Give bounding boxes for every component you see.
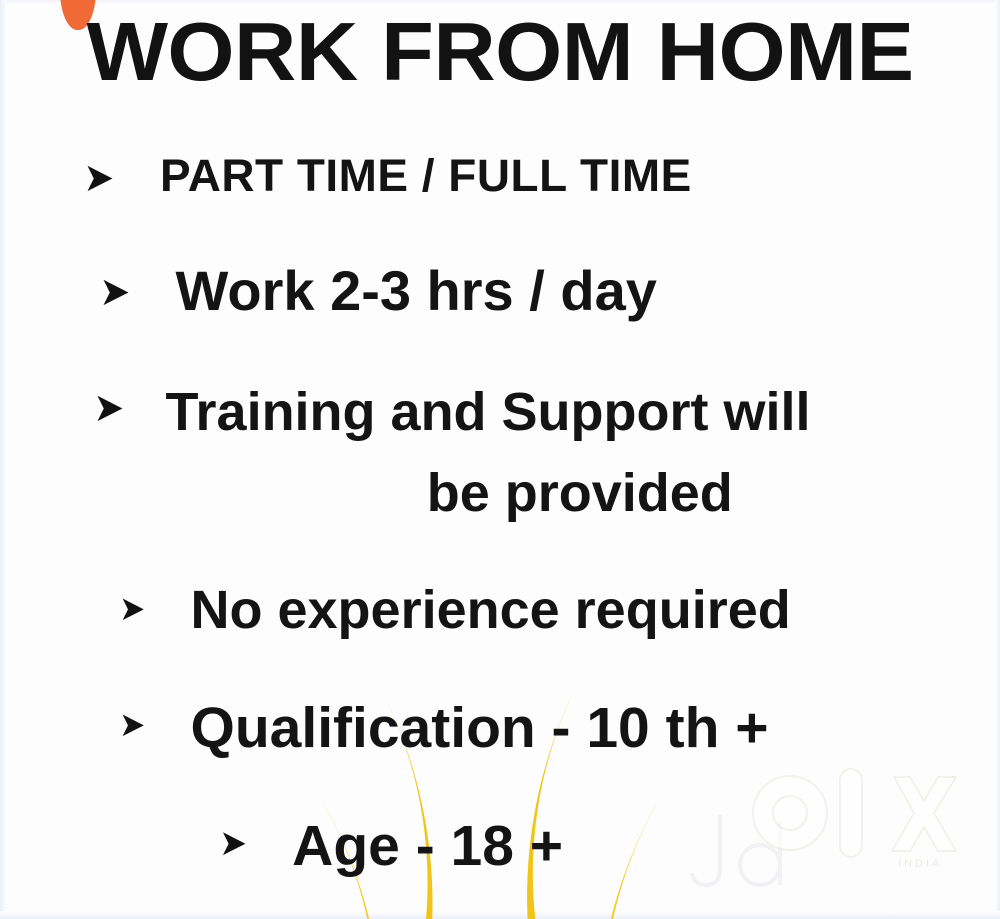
arrow-bullet-icon: ➤	[219, 826, 247, 862]
arrow-bullet-icon: ➤	[119, 592, 145, 626]
list-item-label: Qualification - 10 th +	[191, 694, 1000, 762]
arrow-bullet-icon: ➤	[99, 272, 130, 312]
list-item-label-line1: Training and Support will	[166, 372, 994, 453]
list-item-age: ➤ Age - 18 +	[218, 812, 1000, 880]
list-item-part-time-full-time: ➤ PART TIME / FULL TIME	[82, 148, 1000, 204]
list-item-label: Training and Support willbe provided	[166, 372, 994, 534]
page-title: WORK FROM HOME	[0, 9, 1000, 95]
list-item-label: PART TIME / FULL TIME	[160, 148, 1000, 204]
list-item-label-line2: be provided	[166, 453, 994, 534]
list-item-work-hours: ➤ Work 2-3 hrs / day	[98, 258, 1000, 324]
list-item-label: Age - 18 +	[292, 812, 1000, 880]
list-item-qualification: ➤ Qualification - 10 th +	[118, 694, 1000, 762]
arrow-bullet-icon: ➤	[93, 388, 124, 428]
work-from-home-poster: WORK FROM HOME ➤ PART TIME / FULL TIME ➤…	[0, 0, 1000, 919]
list-item-label: No experience required	[191, 578, 1000, 642]
list-item-label: Work 2-3 hrs / day	[176, 258, 1000, 324]
list-item-no-experience: ➤ No experience required	[118, 578, 1000, 642]
arrow-bullet-icon: ➤	[83, 158, 114, 198]
list-item-training-support: ➤ Training and Support willbe provided	[92, 372, 1000, 534]
benefits-list: ➤ PART TIME / FULL TIME ➤ Work 2-3 hrs /…	[0, 148, 1000, 880]
arrow-bullet-icon: ➤	[119, 708, 145, 742]
